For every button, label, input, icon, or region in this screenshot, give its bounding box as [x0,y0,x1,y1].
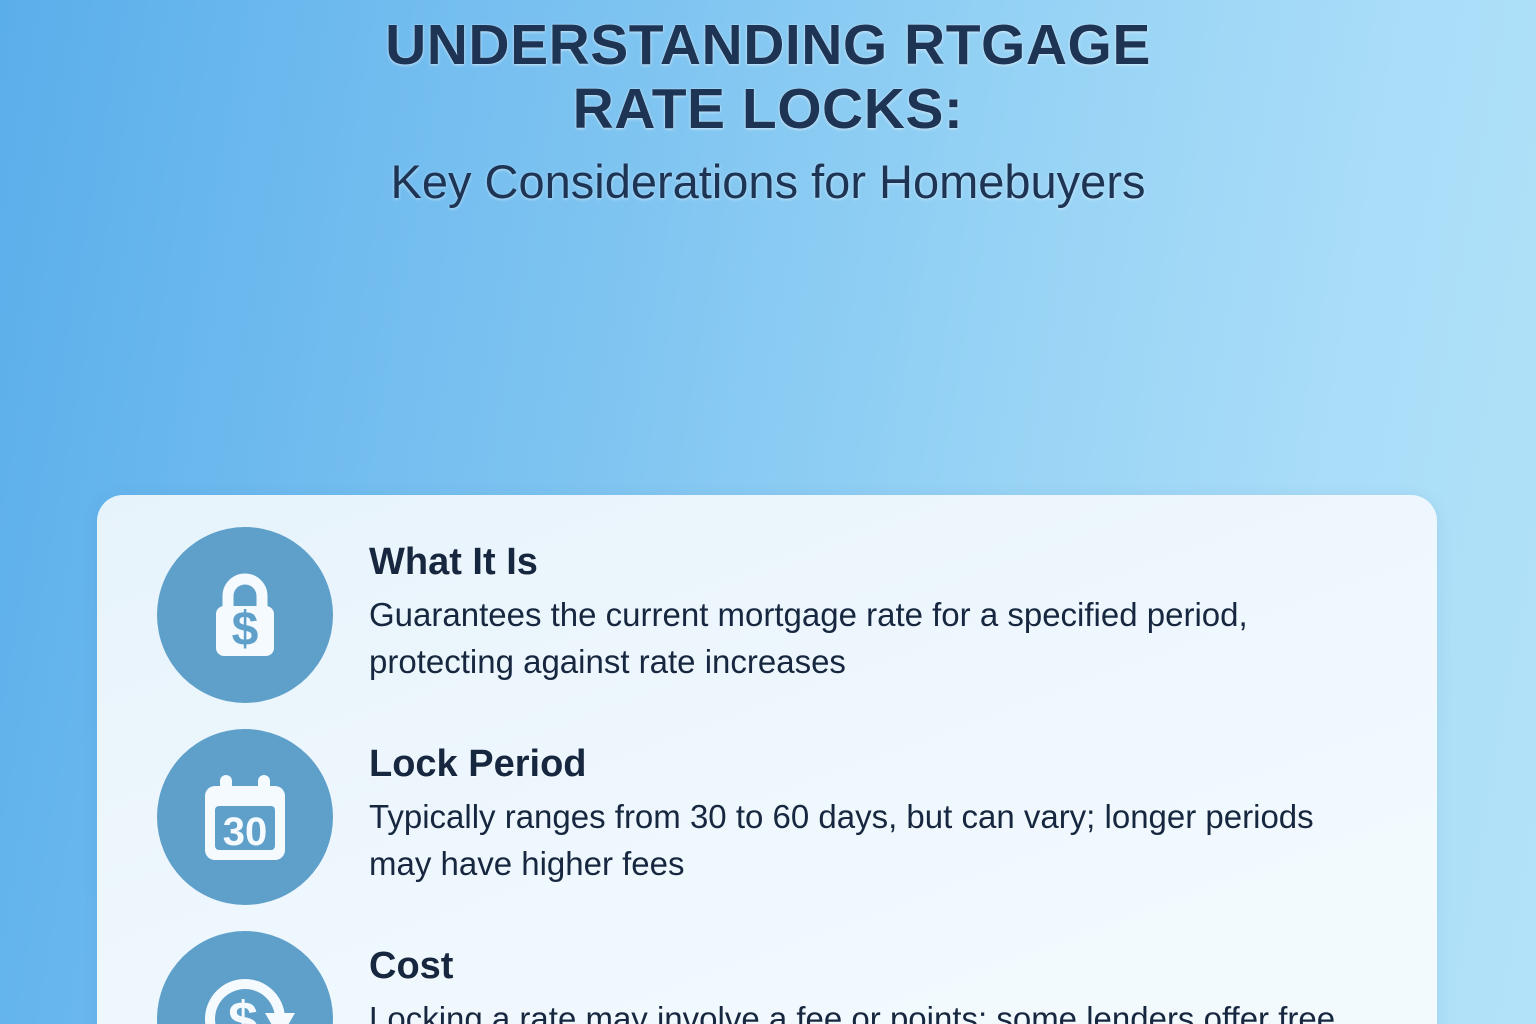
infographic-poster: UNDERSTANDING RTGAGE RATE LOCKS: Key Con… [0,0,1536,1024]
poster-header: UNDERSTANDING RTGAGE RATE LOCKS: Key Con… [0,0,1536,207]
content-card: $ What It Is Guarantees the current mort… [97,495,1437,1024]
list-item-text: What It Is Guarantees the current mortga… [369,527,1397,685]
list-item-description: Locking a rate may involve a fee or poin… [369,996,1379,1024]
list-item: 30 Lock Period Typically ranges from 30 … [97,729,1437,905]
refresh-dollar-icon: $ [157,931,333,1024]
list-item-text: Lock Period Typically ranges from 30 to … [369,729,1397,887]
list-item-description: Typically ranges from 30 to 60 days, but… [369,794,1379,888]
list-item: $ Cost Locking a rate may involve a fee … [97,931,1437,1024]
list-item-description: Guarantees the current mortgage rate for… [369,592,1379,686]
list-item-text: Cost Locking a rate may involve a fee or… [369,931,1397,1024]
page-title-line-2: RATE LOCKS: [0,78,1536,142]
list-item: $ What It Is Guarantees the current mort… [97,527,1437,703]
lock-dollar-icon: $ [157,527,333,703]
calendar-30-icon: 30 [157,729,333,905]
page-title-line-1: UNDERSTANDING RTGAGE [0,14,1536,78]
calendar-day-number: 30 [223,810,268,854]
list-item-title: What It Is [369,541,1397,584]
list-item-title: Cost [369,945,1397,988]
svg-text:$: $ [232,603,259,656]
svg-text:$: $ [228,991,258,1024]
list-item-title: Lock Period [369,743,1397,786]
page-subtitle: Key Considerations for Homebuyers [0,156,1536,208]
content-list: $ What It Is Guarantees the current mort… [97,495,1437,1024]
